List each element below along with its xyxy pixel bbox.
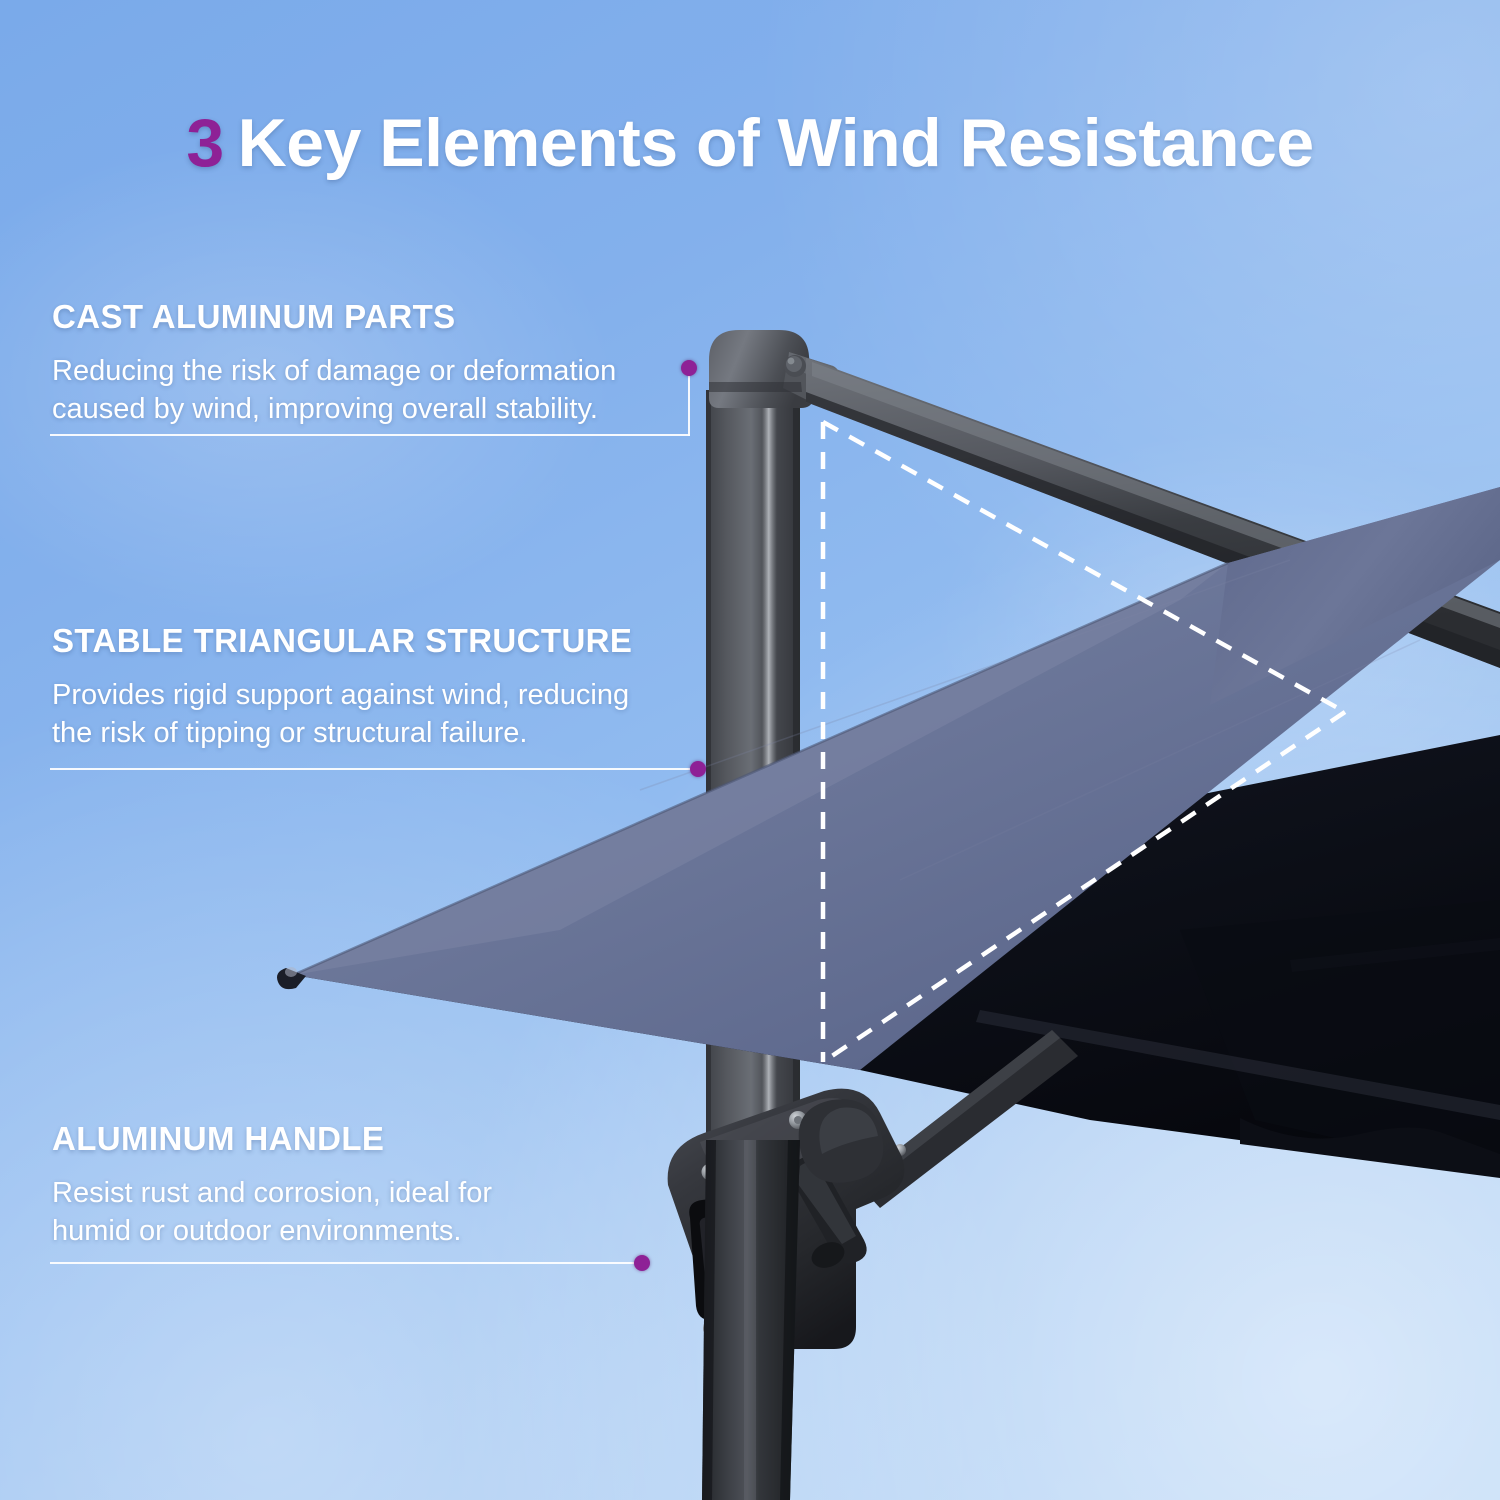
lower-mast (702, 1140, 800, 1500)
callout-2-line-1: Provides rigid support against wind, red… (52, 676, 712, 714)
callout-1-heading: CAST ALUMINUM PARTS (52, 298, 712, 336)
callout-3-line-1: Resist rust and corrosion, ideal for (52, 1174, 712, 1212)
callout-2-line-2: the risk of tipping or structural failur… (52, 714, 712, 752)
callout-2-heading: STABLE TRIANGULAR STRUCTURE (52, 622, 712, 660)
title-text: Key Elements of Wind Resistance (238, 105, 1314, 181)
callout-aluminum-handle: ALUMINUM HANDLE Resist rust and corrosio… (52, 1120, 712, 1251)
callout-1-body: Reducing the risk of damage or deformati… (52, 352, 712, 429)
callout-3-heading: ALUMINUM HANDLE (52, 1120, 712, 1158)
title-number: 3 (186, 105, 223, 181)
callout-2-body: Provides rigid support against wind, red… (52, 676, 712, 753)
callout-1-line-1: Reducing the risk of damage or deformati… (52, 352, 712, 390)
infographic-canvas: 3Key Elements of Wind Resistance CAST AL… (0, 0, 1500, 1500)
callout-cast-aluminum-parts: CAST ALUMINUM PARTS Reducing the risk of… (52, 298, 712, 429)
callout-stable-triangular-structure: STABLE TRIANGULAR STRUCTURE Provides rig… (52, 622, 712, 753)
callout-3-line-2: humid or outdoor environments. (52, 1212, 712, 1250)
callout-3-body: Resist rust and corrosion, ideal for hum… (52, 1174, 712, 1251)
callout-1-line-2: caused by wind, improving overall stabil… (52, 390, 712, 428)
page-title: 3Key Elements of Wind Resistance (0, 104, 1500, 182)
